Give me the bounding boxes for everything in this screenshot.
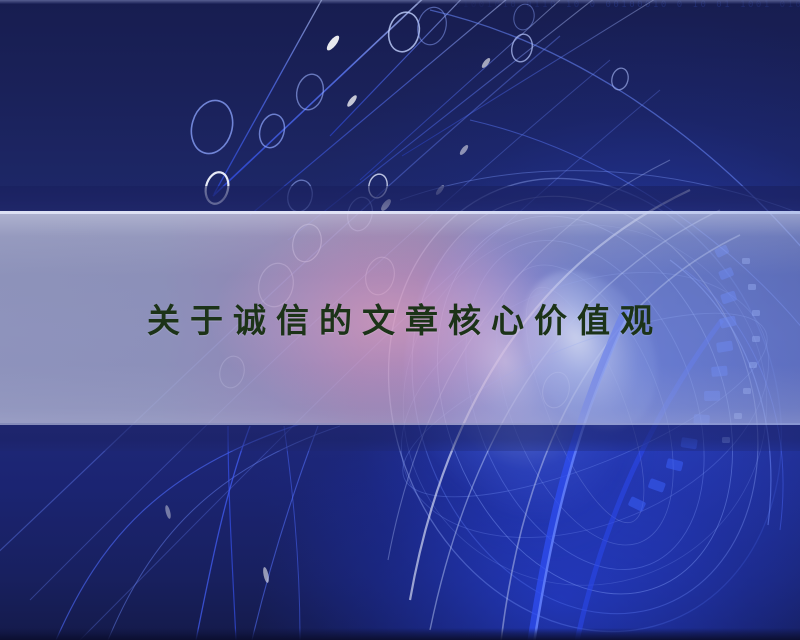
banner-image: 01001010 0110 10 0 00100010 0 10 01 1001… [0,0,800,640]
page-title: 关于诚信的文章核心价值观 [137,294,663,342]
band-above-banner [0,186,800,211]
image-bottom-edge [0,628,800,640]
title-row: 关于诚信的文章核心价值观 [0,211,800,425]
title-banner-strip: 关于诚信的文章核心价值观 [0,211,800,425]
image-top-edge [0,0,800,4]
band-below-banner [0,425,800,451]
